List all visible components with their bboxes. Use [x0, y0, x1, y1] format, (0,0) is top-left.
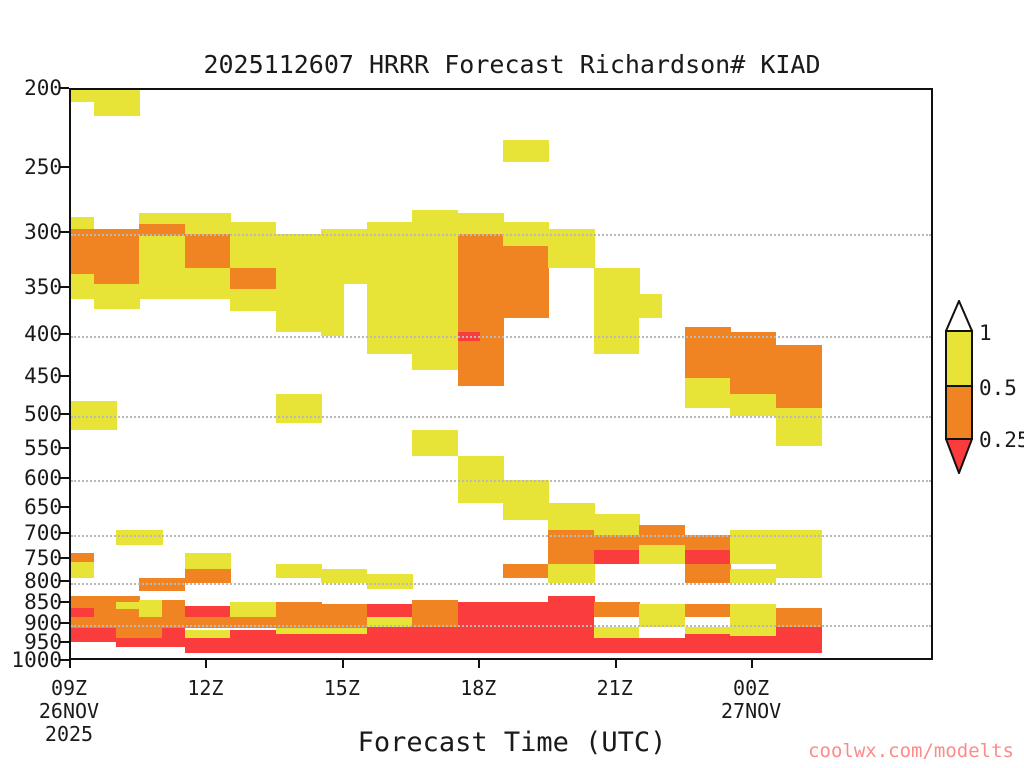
heatmap-cell	[685, 327, 708, 378]
heatmap-cell	[685, 378, 708, 408]
y-axis-labels: 2002503003504004505005506006507007508008…	[0, 0, 62, 768]
heatmap-cell	[480, 602, 503, 616]
colorbar-arrow-bottom	[945, 438, 973, 474]
heatmap-cell	[207, 268, 230, 299]
y-tick-mark	[60, 532, 69, 534]
heatmap-cell	[71, 274, 94, 299]
y-tick-label: 450	[24, 364, 62, 388]
heatmap-cell	[367, 604, 390, 616]
heatmap-cell	[662, 545, 685, 564]
surface-line	[71, 659, 931, 660]
heatmap-cell	[526, 564, 549, 578]
heatmap-cell	[412, 229, 435, 370]
heatmap-cell	[94, 90, 117, 116]
heatmap-cell	[571, 564, 594, 582]
heatmap-cell	[617, 638, 640, 653]
heatmap-cell	[571, 503, 594, 530]
heatmap-cell	[617, 627, 640, 639]
heatmap-cell	[116, 284, 139, 309]
heatmap-cell	[71, 562, 94, 578]
heatmap-cell	[458, 602, 481, 616]
heatmap-cell	[253, 617, 276, 629]
heatmap-cell	[185, 569, 208, 583]
heatmap-cell	[116, 530, 139, 545]
y-tick-mark	[60, 506, 69, 508]
heatmap-cell	[162, 628, 185, 647]
heatmap-cell	[526, 140, 549, 162]
heatmap-cell	[116, 628, 139, 638]
heatmap-cell	[207, 569, 230, 583]
heatmap-cell	[412, 600, 435, 617]
heatmap-cell	[344, 634, 367, 653]
heatmap-cell	[298, 564, 321, 578]
heatmap-cell	[276, 394, 299, 423]
heatmap-cell	[594, 550, 617, 564]
gridline	[71, 535, 931, 537]
colorbar-segment-yellow	[947, 332, 971, 385]
heatmap-cell	[480, 617, 503, 629]
heatmap-cell	[480, 213, 503, 234]
heatmap-cell	[571, 617, 594, 629]
heatmap-cell	[412, 627, 435, 653]
heatmap-cell	[730, 636, 753, 653]
heatmap-cell	[708, 627, 731, 635]
gridline	[71, 625, 931, 627]
heatmap-cell	[94, 596, 117, 617]
heatmap-cell	[298, 602, 321, 616]
heatmap-cell	[139, 628, 162, 638]
heatmap-cell	[526, 617, 549, 629]
y-tick-label: 350	[24, 275, 62, 299]
heatmap-cell	[94, 628, 117, 641]
heatmap-cell	[344, 569, 367, 583]
y-tick-label: 200	[24, 76, 62, 100]
y-tick-label: 700	[24, 521, 62, 545]
heatmap-cell	[753, 627, 776, 637]
heatmap-cell	[435, 600, 458, 617]
heatmap-cell	[116, 602, 139, 609]
heatmap-cell	[708, 535, 731, 550]
y-tick-label: 250	[24, 155, 62, 179]
heatmap-cell	[253, 222, 276, 268]
heatmap-cell	[412, 430, 435, 456]
heatmap-cell	[298, 617, 321, 629]
heatmap-cell	[344, 604, 367, 616]
heatmap-cell	[139, 638, 162, 647]
colorbar-segment-orange	[947, 385, 971, 438]
gridline	[71, 336, 931, 338]
heatmap-cell	[207, 606, 230, 616]
heatmap-cell	[458, 341, 481, 386]
heatmap-cell	[685, 634, 708, 653]
heatmap-cell	[230, 630, 253, 641]
heatmap-cell	[776, 627, 799, 653]
y-tick-mark	[60, 622, 69, 624]
heatmap-cell	[276, 634, 299, 653]
heatmap-cell	[94, 553, 117, 579]
x-tick-mark	[615, 660, 617, 668]
heatmap-cell	[321, 634, 344, 653]
heatmap-cell	[71, 596, 94, 609]
heatmap-cell	[526, 628, 549, 653]
x-tick-label: 12Z	[187, 676, 223, 700]
x-tick-mark	[751, 660, 753, 668]
heatmap-cell	[71, 628, 94, 641]
heatmap-cell	[708, 634, 731, 653]
x-tick-sublabel: 26NOV	[39, 699, 99, 723]
heatmap-cell	[389, 222, 412, 354]
heatmap-cell	[253, 289, 276, 311]
heatmap-cell	[435, 430, 458, 456]
heatmap-cell	[185, 213, 208, 234]
heatmap-cell	[185, 630, 208, 638]
heatmap-cell	[71, 608, 94, 616]
y-tick-mark	[60, 447, 69, 449]
heatmap-cell	[230, 642, 253, 653]
colorbar-label-0.5: 0.5	[979, 376, 1017, 400]
heatmap-cell	[799, 345, 822, 408]
heatmap-cell	[503, 246, 526, 318]
heatmap-cell	[344, 284, 367, 337]
heatmap-cell	[594, 638, 617, 653]
heatmap-cell	[639, 627, 662, 639]
y-tick-mark	[60, 231, 69, 233]
heatmap-cell	[116, 617, 139, 629]
heatmap-cell	[185, 638, 208, 653]
heatmap-cell	[753, 569, 776, 583]
heatmap-cell	[185, 234, 208, 268]
x-tick-label: 15Z	[324, 676, 360, 700]
colorbar[interactable]	[945, 330, 973, 440]
heatmap-cell	[526, 246, 549, 318]
heatmap-cell	[367, 574, 390, 590]
heatmap-cell	[685, 564, 708, 582]
y-tick-label: 800	[24, 569, 62, 593]
y-tick-label: 600	[24, 466, 62, 490]
heatmap-cell	[230, 617, 253, 629]
heatmap-cell	[162, 600, 185, 617]
heatmap-cell	[685, 550, 708, 564]
heatmap-cell	[594, 284, 617, 354]
heatmap-cell	[708, 604, 731, 616]
heatmap-cell	[548, 503, 571, 530]
heatmap-cell	[185, 617, 208, 629]
heatmap-cell	[799, 608, 822, 618]
heatmap-cell	[753, 604, 776, 616]
heatmap-cell	[298, 634, 321, 653]
y-tick-label: 650	[24, 495, 62, 519]
heatmap-cell	[730, 332, 753, 394]
heatmap-cell	[230, 222, 253, 268]
heatmap-cell	[71, 553, 94, 563]
heatmap-cell	[753, 394, 776, 416]
y-tick-label: 750	[24, 546, 62, 570]
heatmap-cell	[139, 600, 162, 617]
heatmap-cell	[594, 535, 617, 550]
heatmap-cell	[298, 394, 321, 423]
heatmap-cell	[253, 602, 276, 616]
heatmap-cell	[526, 480, 549, 519]
heatmap-cell	[776, 408, 799, 446]
heatmap-cell	[730, 604, 753, 616]
y-tick-mark	[60, 375, 69, 377]
heatmap-cell	[571, 596, 594, 617]
heatmap-cell	[662, 294, 685, 370]
heatmap-cell	[548, 596, 571, 617]
heatmap-cell	[548, 628, 571, 653]
heatmap-cell	[458, 234, 481, 332]
y-tick-mark	[60, 286, 69, 288]
plot-area	[69, 88, 933, 660]
heatmap-cell	[162, 236, 185, 298]
heatmap-cell	[139, 578, 162, 591]
y-tick-mark	[60, 477, 69, 479]
x-tick-mark	[205, 660, 207, 668]
heatmap-cell	[230, 602, 253, 616]
heatmap-cell	[162, 578, 185, 591]
heatmap-cell	[685, 535, 708, 550]
heatmap-cell	[276, 617, 299, 629]
heatmap-cell	[594, 627, 617, 639]
heatmap-cell	[435, 627, 458, 653]
heatmap-cell	[526, 602, 549, 616]
heatmap-cell	[321, 229, 344, 336]
y-tick-label: 500	[24, 402, 62, 426]
y-tick-label: 550	[24, 436, 62, 460]
heatmap-cell	[276, 234, 299, 332]
heatmap-cell	[480, 234, 503, 332]
heatmap-cell	[753, 332, 776, 394]
heatmap-cell	[389, 627, 412, 653]
heatmap-cell	[639, 545, 662, 564]
heatmap-cell	[708, 550, 731, 564]
heatmap-cell	[71, 90, 94, 102]
heatmap-cell	[344, 617, 367, 629]
heatmap-cell	[594, 514, 617, 535]
heatmap-cell	[617, 514, 640, 535]
heatmap-cell	[139, 213, 162, 224]
heatmap-cell	[776, 345, 799, 408]
heatmap-cell	[503, 480, 526, 519]
heatmap-cell	[662, 627, 685, 639]
y-tick-label: 400	[24, 322, 62, 346]
heatmap-cell	[799, 408, 822, 446]
heatmap-cell	[185, 553, 208, 570]
colorbar-arrow-top	[945, 300, 973, 332]
heatmap-cell	[458, 213, 481, 234]
heatmap-cell	[116, 90, 139, 116]
heatmap-cell	[207, 638, 230, 653]
heatmap-cell	[594, 268, 617, 284]
heatmap-cell	[321, 617, 344, 629]
heatmap-cell	[207, 213, 230, 234]
x-tick-label: 21Z	[597, 676, 633, 700]
y-tick-label: 1000	[11, 648, 62, 672]
heatmap-cells	[71, 90, 931, 658]
heatmap-cell	[617, 602, 640, 616]
x-tick-label: 18Z	[460, 676, 496, 700]
y-tick-mark	[60, 557, 69, 559]
heatmap-cell	[139, 617, 162, 629]
heatmap-cell	[344, 229, 367, 283]
heatmap-cell	[776, 555, 799, 578]
y-tick-mark	[60, 641, 69, 643]
heatmap-cell	[162, 617, 185, 629]
heatmap-cell	[71, 617, 94, 629]
heatmap-cell	[139, 530, 162, 545]
y-tick-mark	[60, 87, 69, 89]
chart-title: 2025112607 HRRR Forecast Richardson# KIA…	[0, 50, 1024, 79]
heatmap-cell	[503, 602, 526, 616]
heatmap-cell	[685, 627, 708, 635]
heatmap-cell	[94, 617, 117, 629]
heatmap-cell	[389, 574, 412, 590]
y-tick-label: 300	[24, 220, 62, 244]
heatmap-cell	[207, 553, 230, 570]
heatmap-cell	[367, 222, 390, 354]
y-tick-mark	[60, 413, 69, 415]
heatmap-cell	[662, 638, 685, 653]
x-tick-mark	[69, 660, 71, 668]
colorbar-label-1: 1	[979, 321, 992, 345]
chart-root: 2025112607 HRRR Forecast Richardson# KIA…	[0, 0, 1024, 768]
heatmap-cell	[708, 378, 731, 408]
heatmap-cell	[116, 229, 139, 283]
heatmap-cell	[458, 617, 481, 629]
heatmap-cell	[617, 535, 640, 550]
colorbar-label-0.25: 0.25	[979, 428, 1024, 452]
heatmap-cell	[730, 627, 753, 637]
heatmap-cell	[548, 617, 571, 629]
heatmap-cell	[389, 604, 412, 616]
watermark: coolwx.com/modelts	[0, 740, 1014, 762]
x-tick-label: 00Z	[733, 676, 769, 700]
x-tick-mark	[478, 660, 480, 668]
heatmap-cell	[639, 604, 662, 616]
heatmap-cell	[298, 234, 321, 332]
heatmap-cell	[230, 289, 253, 311]
heatmap-cell	[708, 327, 731, 378]
heatmap-cell	[94, 284, 117, 309]
heatmap-cell	[185, 268, 208, 299]
heatmap-cell	[617, 550, 640, 564]
gridline	[71, 416, 931, 418]
heatmap-cell	[503, 628, 526, 653]
y-tick-mark	[60, 166, 69, 168]
heatmap-cell	[799, 627, 822, 653]
heatmap-cell	[617, 268, 640, 354]
heatmap-cell	[753, 636, 776, 653]
heatmap-cell	[139, 236, 162, 298]
heatmap-cell	[548, 564, 571, 582]
heatmap-cell	[276, 602, 299, 616]
gridline	[71, 480, 931, 482]
gridline	[71, 583, 931, 585]
heatmap-cell	[639, 638, 662, 653]
heatmap-cell	[594, 602, 617, 616]
heatmap-cell	[639, 294, 662, 318]
heatmap-cell	[685, 604, 708, 616]
heatmap-cell	[94, 229, 117, 283]
heatmap-cell	[708, 564, 731, 582]
gridline	[71, 234, 931, 236]
heatmap-cell	[458, 628, 481, 653]
heatmap-cell	[185, 606, 208, 616]
heatmap-cell	[730, 394, 753, 416]
heatmap-cell	[503, 617, 526, 629]
heatmap-cell	[207, 617, 230, 629]
heatmap-cell	[799, 555, 822, 578]
heatmap-cell	[662, 604, 685, 616]
heatmap-cell	[480, 628, 503, 653]
heatmap-cell	[276, 564, 299, 578]
heatmap-cell	[207, 234, 230, 268]
heatmap-cell	[230, 268, 253, 289]
y-tick-mark	[60, 580, 69, 582]
heatmap-cell	[503, 564, 526, 578]
heatmap-cell	[207, 630, 230, 638]
heatmap-cell	[253, 630, 276, 653]
heatmap-cell	[730, 569, 753, 583]
heatmap-cell	[480, 332, 503, 386]
heatmap-cell	[776, 608, 799, 618]
heatmap-cell	[412, 210, 435, 230]
x-tick-label: 09Z	[51, 676, 87, 700]
heatmap-cell	[321, 569, 344, 583]
heatmap-cell	[571, 628, 594, 653]
heatmap-cell	[253, 268, 276, 289]
y-tick-mark	[60, 333, 69, 335]
y-tick-mark	[60, 659, 69, 661]
heatmap-cell	[367, 627, 390, 653]
heatmap-cell	[116, 638, 139, 647]
x-tick-sublabel: 27NOV	[721, 699, 781, 723]
heatmap-cell	[321, 604, 344, 616]
x-tick-mark	[342, 660, 344, 668]
heatmap-cell	[503, 140, 526, 162]
heatmap-cell	[639, 318, 662, 370]
heatmap-cell	[71, 217, 94, 229]
y-tick-mark	[60, 601, 69, 603]
heatmap-cell	[162, 213, 185, 224]
